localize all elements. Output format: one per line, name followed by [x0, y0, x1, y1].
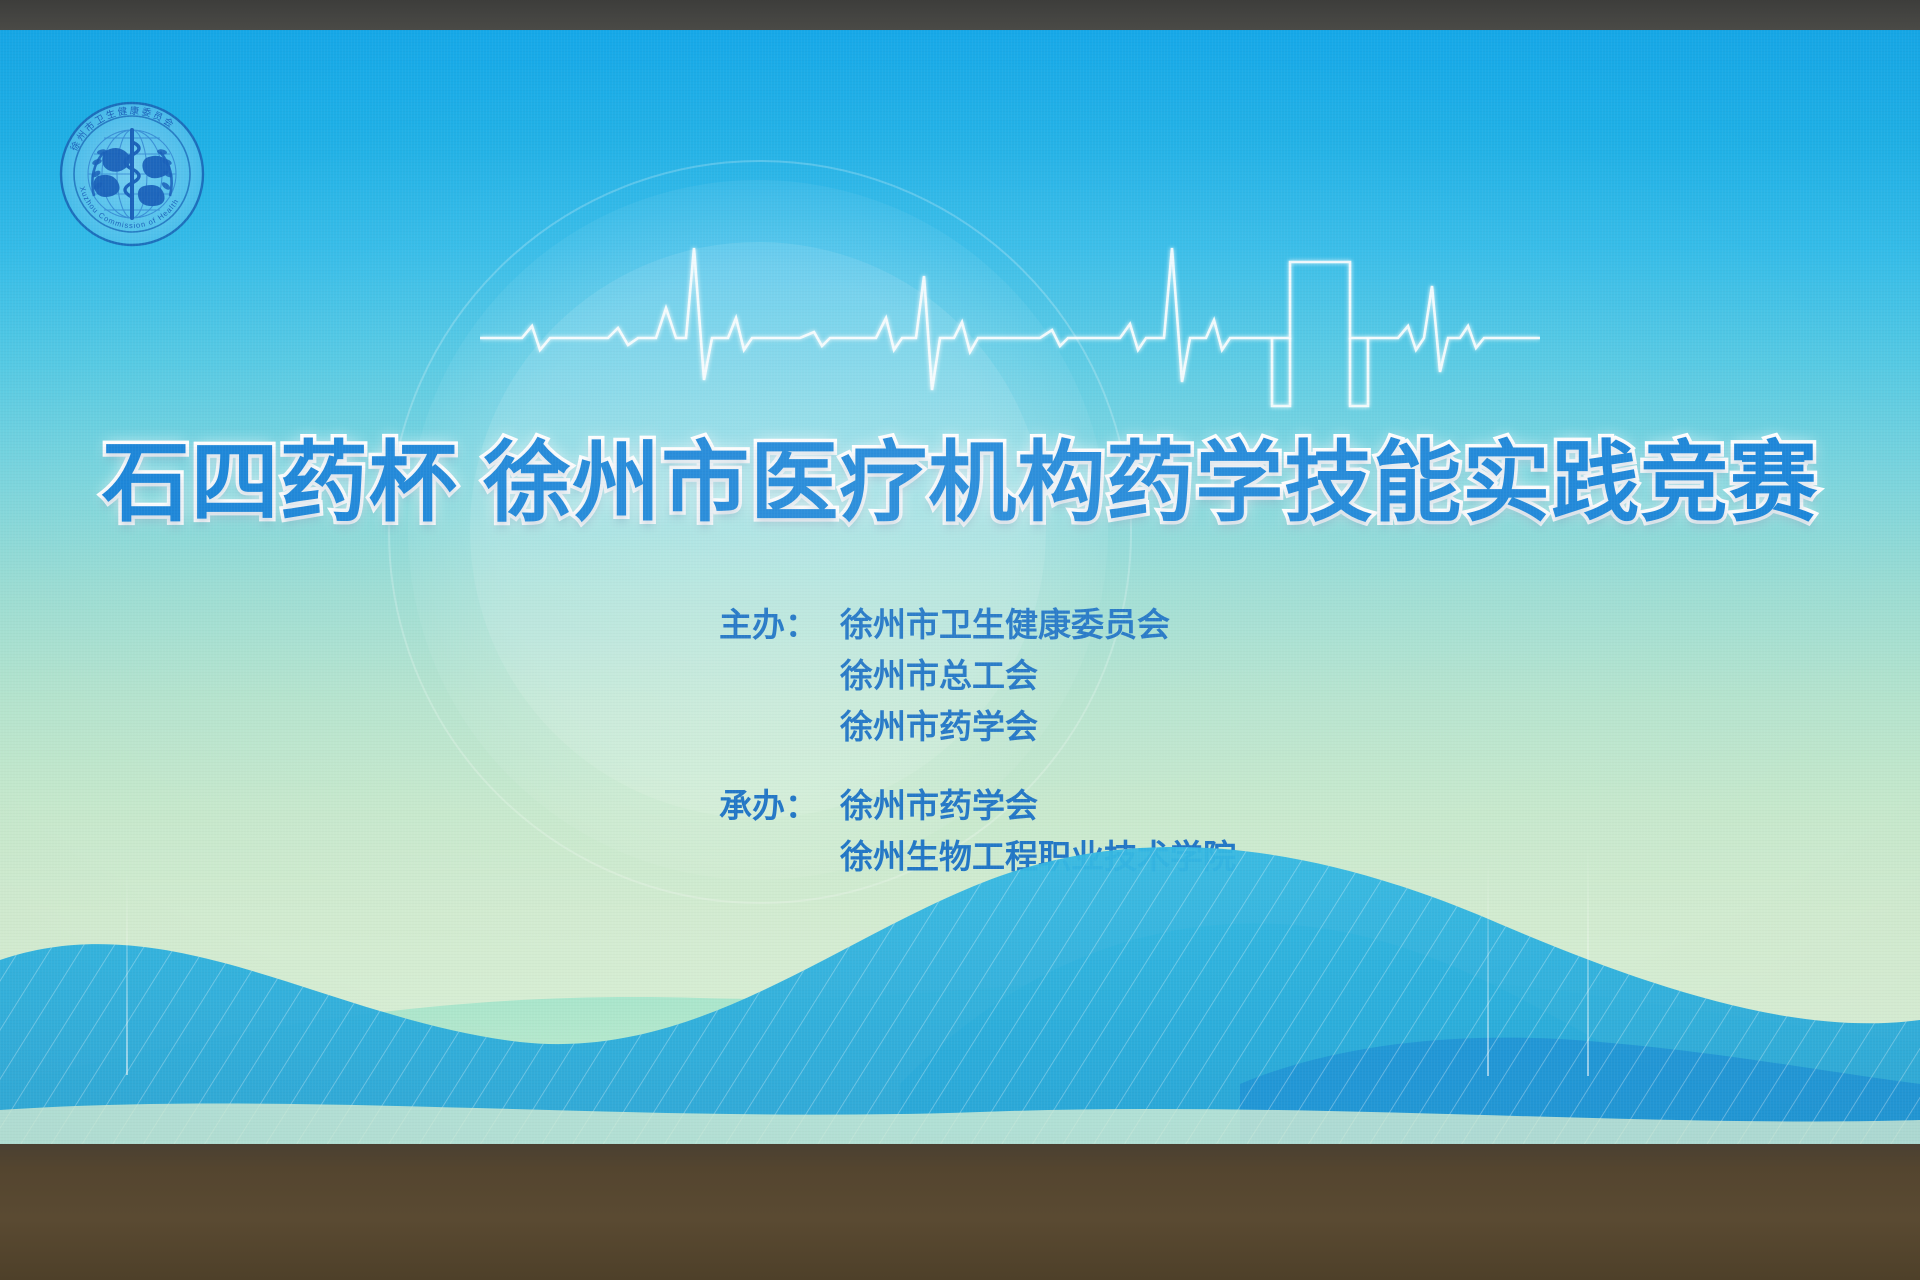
organizer-label-host: 主办：	[700, 608, 840, 641]
organizer-entry: 徐州市总工会	[840, 659, 1170, 692]
organizer-entry: 徐州市卫生健康委员会	[840, 608, 1170, 641]
projected-slide-photo: 徐州市卫生健康委员会 Xuzhou Commission of Health 石…	[0, 0, 1920, 1280]
light-pole	[126, 870, 128, 1075]
ceiling-bezel	[0, 0, 1920, 30]
slide-title: 石四药杯 徐州市医疗机构药学技能实践竞赛	[0, 434, 1920, 533]
organizer-values-host: 徐州市卫生健康委员会 徐州市总工会 徐州市药学会	[840, 608, 1170, 743]
stage-wall	[0, 1144, 1920, 1280]
xuzhou-health-commission-logo: 徐州市卫生健康委员会 Xuzhou Commission of Health	[48, 90, 216, 258]
light-pole	[1587, 842, 1589, 1076]
projection-screen: 徐州市卫生健康委员会 Xuzhou Commission of Health 石…	[0, 30, 1920, 1144]
organizer-group-host: 主办： 徐州市卫生健康委员会 徐州市总工会 徐州市药学会	[700, 608, 1600, 743]
background-rolling-hills	[0, 784, 1920, 1144]
ecg-heartbeat-line	[480, 200, 1540, 440]
organizer-entry: 徐州市药学会	[840, 710, 1170, 743]
light-pole	[1487, 858, 1489, 1076]
